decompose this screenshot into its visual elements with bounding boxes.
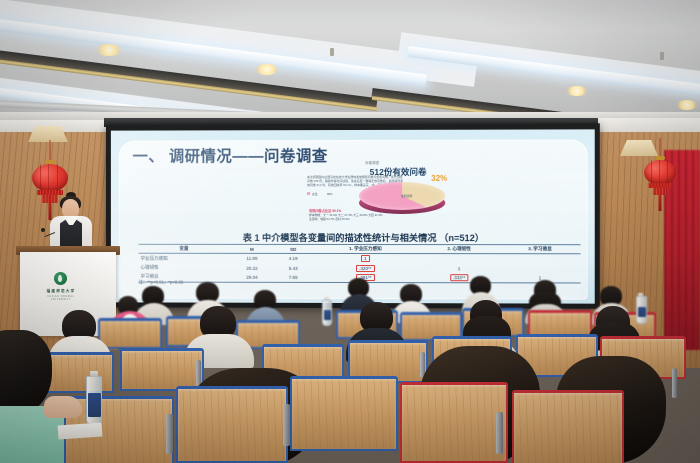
presentation-slide: 一、 调研情况——问卷调查 问卷调查 512份有效问卷 本次调研面向全国高校在校… bbox=[111, 129, 595, 303]
seat-far-1 bbox=[98, 318, 162, 349]
table-cell-value: 1 bbox=[419, 264, 500, 273]
table-cell-value: 7.65 bbox=[274, 273, 312, 283]
slide-title: 一、 调研情况——问卷调查 bbox=[133, 144, 328, 166]
table-cell-variable: 学业压力感知 bbox=[138, 254, 229, 264]
chart-eyebrow-label: 问卷调查 bbox=[365, 160, 379, 165]
table-cell-value: 29.04 bbox=[230, 273, 275, 283]
seat-hinge-front-1 bbox=[166, 414, 173, 454]
legend-swatch-female bbox=[307, 192, 310, 195]
table-cell-value: .320** bbox=[312, 264, 419, 273]
table-cell-variable: 心理韧性 bbox=[138, 263, 229, 272]
highlighted-correlation: .320** bbox=[356, 265, 375, 272]
legend-value-female: 68% bbox=[327, 192, 333, 196]
sprinkler-head-2 bbox=[660, 52, 664, 60]
microphone-head bbox=[41, 228, 45, 232]
seat-mid-2 bbox=[120, 348, 204, 391]
audience-hand bbox=[44, 396, 82, 418]
chart-footnote-2: 生源地：城镇 54.7% 农村 45.3% bbox=[309, 217, 350, 221]
podium-org-name-en: FUJIAN NORMAL UNIVERSITY bbox=[38, 295, 84, 301]
legend-label-female: 女生 bbox=[312, 192, 318, 196]
th-sd: SD bbox=[274, 244, 312, 253]
table-note: 注：**p<0.01，*p<0.05 bbox=[138, 280, 183, 286]
seat-front-3 bbox=[290, 376, 398, 451]
right-soffit bbox=[588, 118, 700, 132]
table-cell-value bbox=[419, 254, 500, 264]
table-cell-value bbox=[499, 254, 580, 264]
table-cell-value bbox=[499, 264, 580, 273]
th-col1: 1. 学业压力感知 bbox=[312, 244, 419, 253]
th-col2: 2. 心理韧性 bbox=[419, 245, 500, 254]
seat-front-4 bbox=[400, 382, 508, 463]
highlighted-correlation: 1 bbox=[361, 255, 370, 262]
water-bottle-far[interactable] bbox=[322, 300, 332, 326]
water-bottle-front[interactable] bbox=[86, 376, 102, 424]
table-title: 表 1 中介模型各变量间的描述性统计与相关情况 （n=512） bbox=[174, 230, 554, 244]
seat-hinge-front-2 bbox=[283, 404, 290, 446]
seat-front-5 bbox=[512, 390, 624, 463]
table-cell-value: 5.43 bbox=[274, 263, 312, 272]
table-cell-value: 1 bbox=[312, 254, 419, 264]
pie-percent-label: 32% bbox=[431, 174, 447, 183]
highlighted-correlation: .333** bbox=[450, 274, 469, 281]
table-cell-value: 11.89 bbox=[230, 254, 275, 264]
lecture-hall-photo: 一、 调研情况——问卷调查 问卷调查 512份有效问卷 本次调研面向全国高校在校… bbox=[0, 0, 700, 463]
red-lantern-right bbox=[642, 138, 678, 234]
table-cell-value: 20.22 bbox=[230, 263, 275, 272]
table-cell-value: 4.19 bbox=[274, 254, 312, 264]
seat-hinge-3 bbox=[672, 368, 677, 398]
water-bottle-far-right[interactable] bbox=[636, 296, 647, 324]
sprinkler-head bbox=[330, 48, 334, 56]
th-mean: M bbox=[230, 244, 275, 253]
survey-chart-block: 问卷调查 512份有效问卷 本次调研面向全国高校在校大学生群体发放网络问卷与纸质… bbox=[305, 160, 491, 226]
university-logo-leaf-icon bbox=[58, 275, 62, 282]
th-col3: 3. 学习倦怠 bbox=[499, 245, 580, 255]
seat-front-2 bbox=[176, 386, 288, 463]
th-variable: 变量 bbox=[138, 244, 229, 253]
podium-org-name-cn: 福建师范大学 bbox=[38, 289, 84, 294]
seat-hinge-front-3 bbox=[496, 412, 503, 454]
table-header-row: 变量 M SD 1. 学业压力感知 2. 心理韧性 3. 学习倦怠 bbox=[138, 244, 580, 254]
pie-legend-title: 性别比例 bbox=[401, 194, 412, 198]
